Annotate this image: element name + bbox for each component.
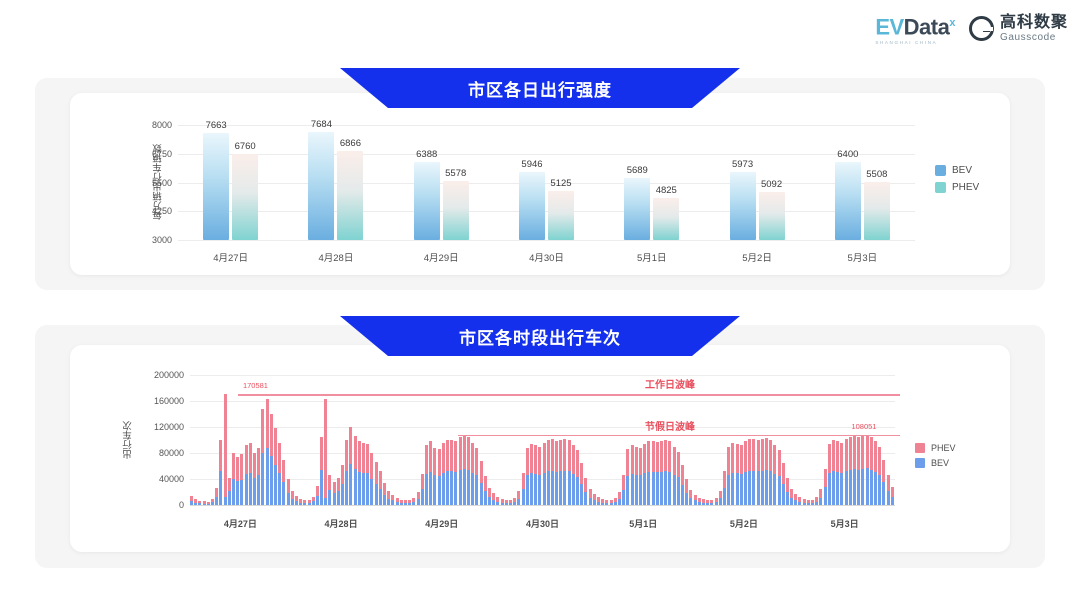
chart2-bar-bev-segment xyxy=(240,480,243,505)
chart2-bar[interactable] xyxy=(245,445,248,505)
chart2-y-tick: 80000 xyxy=(128,448,184,458)
chart2-bar-phev-segment xyxy=(320,437,323,469)
chart2-bar-bev-segment xyxy=(769,471,772,505)
section-1-panel: 每万辆出行车辆数30004250550067508000766367604月27… xyxy=(35,78,1045,290)
chart2-bar[interactable] xyxy=(496,497,499,505)
chart2-bar[interactable] xyxy=(559,440,562,505)
chart2-bar-bev-segment xyxy=(853,469,856,505)
chart2-bar-phev-segment xyxy=(349,427,352,464)
chart2-bar-bev-segment xyxy=(354,469,357,505)
section-1-title: 市区各日出行强度 xyxy=(468,76,612,101)
chart2-bar[interactable] xyxy=(639,448,642,505)
chart2-bar[interactable] xyxy=(874,441,877,505)
chart2-bar[interactable] xyxy=(861,436,864,505)
chart2-bar-bev-segment xyxy=(333,493,336,505)
chart2-bar-phev-segment xyxy=(446,440,449,471)
chart2-bar[interactable] xyxy=(471,443,474,505)
chart2-bar-bev-segment xyxy=(740,474,743,505)
chart2-bar[interactable] xyxy=(530,444,533,505)
chart2-bar[interactable] xyxy=(442,443,445,505)
chart2-bar-phev-segment xyxy=(778,450,781,477)
chart2-bar[interactable] xyxy=(757,440,760,505)
chart2-bar[interactable] xyxy=(647,441,650,505)
chart2-bar-phev-segment xyxy=(891,487,894,497)
chart2-bar[interactable] xyxy=(790,489,793,505)
chart2-bar-bev-segment xyxy=(836,472,839,505)
chart2-bar-phev-segment xyxy=(559,440,562,471)
chart2-bar[interactable] xyxy=(618,492,621,505)
chart2-bar-bev-segment xyxy=(480,483,483,505)
chart2-bar[interactable] xyxy=(849,437,852,505)
chart2-bar[interactable] xyxy=(421,474,424,505)
chart2-bar-bev-segment xyxy=(438,476,441,505)
chart2-bar-phev-segment xyxy=(517,491,520,498)
chart1-bar-phev[interactable] xyxy=(337,151,363,240)
chart2-bar[interactable] xyxy=(752,439,755,505)
chart1-x-tick: 5月1日 xyxy=(607,250,697,264)
chart2-bar[interactable] xyxy=(736,444,739,505)
chart2-bar[interactable] xyxy=(715,498,718,505)
chart2-bar[interactable] xyxy=(316,486,319,506)
chart2-legend-swatch xyxy=(915,443,925,453)
chart2-bar[interactable] xyxy=(362,443,365,505)
chart2-bar-bev-segment xyxy=(668,472,671,505)
chart2-bar-bev-segment xyxy=(349,464,352,505)
chart2-bar-phev-segment xyxy=(240,454,243,479)
chart2-bar-phev-segment xyxy=(463,436,466,469)
chart2-bar[interactable] xyxy=(677,452,680,505)
chart2-bar[interactable] xyxy=(580,463,583,505)
section-2-panel: 出行车次04000080000120000160000200000工作日波峰节假… xyxy=(35,325,1045,568)
chart2-bar-phev-segment xyxy=(522,473,525,489)
chart2-bar-bev-segment xyxy=(828,473,831,505)
chart1-legend: BEVPHEV xyxy=(935,165,979,199)
chart2-bar[interactable] xyxy=(698,498,701,505)
chart2-bar-phev-segment xyxy=(866,435,869,469)
chart2-bar[interactable] xyxy=(324,399,327,505)
chart2-bar[interactable] xyxy=(723,471,726,505)
chart2-x-tick: 5月1日 xyxy=(598,517,688,530)
chart2-bar[interactable] xyxy=(341,465,344,505)
chart1-bar-bev[interactable] xyxy=(308,132,334,240)
chart2-bar[interactable] xyxy=(236,457,239,505)
chart1-bar-bev[interactable] xyxy=(835,162,861,240)
chart2-legend-label: BEV xyxy=(931,458,949,468)
chart2-y-tick: 40000 xyxy=(128,474,184,484)
chart2-bar[interactable] xyxy=(689,490,692,505)
chart1-bar-value: 5508 xyxy=(866,169,887,180)
chart2-bar[interactable] xyxy=(794,494,797,505)
chart2-bar[interactable] xyxy=(786,478,789,505)
chart2-bar[interactable] xyxy=(320,437,323,505)
annotation-line-holiday-peak xyxy=(458,435,900,437)
chart2-bar[interactable] xyxy=(291,491,294,505)
chart2-bar[interactable] xyxy=(631,445,634,505)
chart2-bar[interactable] xyxy=(589,489,592,505)
chart2-bar-bev-segment xyxy=(555,472,558,505)
chart2-bar-bev-segment xyxy=(421,489,424,505)
chart1-bar-phev[interactable] xyxy=(443,181,469,240)
chart2-legend-label: PHEV xyxy=(931,443,956,453)
chart2-bar-phev-segment xyxy=(316,486,319,497)
chart1-bar-value: 5973 xyxy=(732,159,753,170)
chart2-bar[interactable] xyxy=(266,399,269,505)
chart1-y-tick: 6750 xyxy=(132,149,172,159)
chart2-bar-bev-segment xyxy=(429,472,432,505)
chart2-bar[interactable] xyxy=(484,476,487,505)
chart2-bar[interactable] xyxy=(513,498,516,505)
chart2-bar[interactable] xyxy=(454,441,457,505)
chart2-bar-phev-segment xyxy=(786,478,789,492)
chart2-bar-phev-segment xyxy=(773,445,776,474)
chart2-bar[interactable] xyxy=(824,469,827,505)
chart2-bar-bev-segment xyxy=(442,473,445,505)
chart2-bar-phev-segment xyxy=(261,409,264,453)
chart2-bar-bev-segment xyxy=(580,484,583,505)
chart2-bar[interactable] xyxy=(543,443,546,505)
chart2-bar-phev-segment xyxy=(744,441,747,472)
chart2-bar[interactable] xyxy=(643,444,646,505)
chart2-bar[interactable] xyxy=(261,409,264,505)
chart2-bar[interactable] xyxy=(396,498,399,505)
chart2-bar-bev-segment xyxy=(270,456,273,505)
chart2-bar-bev-segment xyxy=(882,482,885,505)
chart2-bar-phev-segment xyxy=(324,399,327,498)
chart2-bar[interactable] xyxy=(391,495,394,505)
chart2-bar[interactable] xyxy=(240,454,243,505)
chart2-bar[interactable] xyxy=(744,441,747,505)
chart2-bar[interactable] xyxy=(328,475,331,505)
chart2-bar[interactable] xyxy=(572,445,575,505)
chart2-bar-phev-segment xyxy=(421,474,424,490)
gausscode-en-name: Gausscode xyxy=(1000,33,1068,43)
chart2-bar[interactable] xyxy=(257,448,260,505)
chart2-bar-phev-segment xyxy=(757,440,760,471)
chart2-bar[interactable] xyxy=(555,441,558,505)
chart1-x-tick: 4月30日 xyxy=(502,250,592,264)
chart2-bar-phev-segment xyxy=(622,475,625,490)
chart2-bar[interactable] xyxy=(694,495,697,505)
chart2-bar-bev-segment xyxy=(341,484,344,505)
chart2-bar[interactable] xyxy=(685,479,688,505)
logo-group: EVDatax SHANGHAI CHINA 高科数聚 Gausscode xyxy=(875,12,1068,45)
chart2-bar[interactable] xyxy=(568,440,571,505)
chart2-bar[interactable] xyxy=(438,449,441,505)
chart2-bar-phev-segment xyxy=(618,492,621,499)
chart2-bar[interactable] xyxy=(278,443,281,505)
chart2-bar[interactable] xyxy=(412,498,415,505)
chart2-bar[interactable] xyxy=(433,448,436,505)
chart2-bar[interactable] xyxy=(563,439,566,505)
chart2-bar[interactable] xyxy=(547,440,550,505)
chart2-bar[interactable] xyxy=(387,491,390,505)
chart2-bar[interactable] xyxy=(295,496,298,505)
chart2-bar-phev-segment xyxy=(429,441,432,472)
chart2-bar[interactable] xyxy=(190,496,193,505)
chart2-bar[interactable] xyxy=(832,440,835,505)
chart2-bar[interactable] xyxy=(765,438,768,505)
chart2-bar-phev-segment xyxy=(673,447,676,475)
chart2-bar-bev-segment xyxy=(832,471,835,505)
chart2-bar[interactable] xyxy=(354,436,357,505)
chart2-bar-phev-segment xyxy=(257,448,260,475)
chart2-bar[interactable] xyxy=(375,462,378,505)
chart2-bar[interactable] xyxy=(333,482,336,505)
chart2-bar[interactable] xyxy=(349,427,352,505)
chart2-bar-phev-segment xyxy=(387,491,390,499)
chart2-bar[interactable] xyxy=(828,444,831,505)
chart2-bar[interactable] xyxy=(773,445,776,505)
chart2-bar[interactable] xyxy=(622,475,625,505)
chart1-bar-value: 7663 xyxy=(206,120,227,131)
chart1-gridline xyxy=(178,183,915,184)
chart2-bar[interactable] xyxy=(819,489,822,505)
chart1-bar-bev[interactable] xyxy=(624,178,650,240)
chart2-bar-bev-segment xyxy=(257,475,260,505)
chart1-bar-phev[interactable] xyxy=(759,192,785,240)
chart2-bar[interactable] xyxy=(358,441,361,505)
chart2-bar[interactable] xyxy=(878,447,881,506)
chart2-bar[interactable] xyxy=(463,436,466,505)
chart2-bar[interactable] xyxy=(480,461,483,505)
chart2-bar[interactable] xyxy=(740,445,743,505)
chart2-bar[interactable] xyxy=(673,447,676,506)
chart2-bar[interactable] xyxy=(538,447,541,506)
chart2-bar-bev-segment xyxy=(572,474,575,505)
chart2-bar-bev-segment xyxy=(475,475,478,505)
chart1-legend-swatch xyxy=(935,182,946,193)
chart2-bar[interactable] xyxy=(882,460,885,506)
chart2-bar[interactable] xyxy=(287,479,290,505)
chart2-bar-bev-segment xyxy=(857,470,860,505)
chart2-bar[interactable] xyxy=(459,437,462,505)
chart2-bar-bev-segment xyxy=(370,479,373,505)
chart2-bar-phev-segment xyxy=(287,479,290,493)
chart2-bar[interactable] xyxy=(836,441,839,505)
chart2-bar-bev-segment xyxy=(786,492,789,505)
chart2-bar[interactable] xyxy=(681,465,684,505)
chart2-bar[interactable] xyxy=(845,439,848,505)
chart2-bar[interactable] xyxy=(345,440,348,505)
evdata-logo: EVDatax SHANGHAI CHINA xyxy=(875,12,955,45)
chart2-bar-bev-segment xyxy=(727,475,730,505)
chart2-bar-bev-segment xyxy=(463,469,466,505)
chart2-bar-phev-segment xyxy=(824,469,827,487)
chart2-bar[interactable] xyxy=(727,447,730,506)
chart2-bar[interactable] xyxy=(282,460,285,506)
gausscode-logo: 高科数聚 Gausscode xyxy=(969,15,1068,43)
chart2-bar[interactable] xyxy=(370,453,373,505)
chart2-bar[interactable] xyxy=(379,471,382,505)
chart2-bar[interactable] xyxy=(782,463,785,505)
chart2-bar[interactable] xyxy=(778,450,781,505)
chart2-bar[interactable] xyxy=(664,440,667,505)
chart2-bar[interactable] xyxy=(840,443,843,505)
chart2-bar-phev-segment xyxy=(534,445,537,474)
chart2-bar-phev-segment xyxy=(333,482,336,494)
chart2-bar[interactable] xyxy=(870,437,873,505)
chart2-bar-phev-segment xyxy=(677,452,680,478)
chart2-bar[interactable] xyxy=(866,435,869,505)
evdata-data-text: Data xyxy=(904,14,950,39)
chart2-bar-bev-segment xyxy=(282,482,285,505)
chart2-bar[interactable] xyxy=(522,473,525,506)
chart2-bar-bev-segment xyxy=(219,471,222,505)
chart2-bar-phev-segment xyxy=(857,437,860,469)
chart2-bar-phev-segment xyxy=(270,414,273,456)
chart2-bar-phev-segment xyxy=(480,461,483,483)
chart2-bar[interactable] xyxy=(769,440,772,505)
chart1-bar-phev[interactable] xyxy=(232,154,258,240)
chart2-bar[interactable] xyxy=(887,475,890,505)
chart2-bar[interactable] xyxy=(253,453,256,505)
chart2-bar[interactable] xyxy=(383,483,386,505)
chart2-bar-bev-segment xyxy=(660,472,663,505)
chart2-bar-phev-segment xyxy=(639,448,642,475)
chart2-bar[interactable] xyxy=(719,491,722,505)
chart2-bar-phev-segment xyxy=(341,465,344,484)
chart2-bar[interactable] xyxy=(731,443,734,505)
chart2-bar[interactable] xyxy=(534,445,537,505)
chart2-bar[interactable] xyxy=(417,492,420,505)
chart2-bar[interactable] xyxy=(593,494,596,505)
chart2-bar[interactable] xyxy=(656,442,659,505)
chart2-bar-bev-segment xyxy=(589,498,592,505)
chart1-bar-bev[interactable] xyxy=(730,172,756,240)
chart2-bar-phev-segment xyxy=(723,471,726,488)
chart1-bar-value: 6760 xyxy=(235,141,256,152)
annotation-label-weekday-peak: 工作日波峰 xyxy=(645,376,695,391)
chart1-gridline xyxy=(178,125,915,126)
chart2-bar-bev-segment xyxy=(215,497,218,505)
chart2-bar-bev-segment xyxy=(887,491,890,505)
chart2-bar[interactable] xyxy=(815,497,818,505)
chart2-bar[interactable] xyxy=(526,448,529,505)
chart1-bar-bev[interactable] xyxy=(519,172,545,240)
chart2-bar-phev-segment xyxy=(471,443,474,473)
chart2-bar[interactable] xyxy=(551,439,554,505)
chart2-bar[interactable] xyxy=(857,437,860,505)
chart2-bar-bev-segment xyxy=(358,472,361,505)
chart2-bar-phev-segment xyxy=(576,450,579,476)
chart2-bar[interactable] xyxy=(891,487,894,505)
chart2-bar[interactable] xyxy=(488,488,491,505)
chart2-bar[interactable] xyxy=(228,478,231,505)
chart2-legend-item[interactable]: PHEV xyxy=(915,443,956,453)
chart2-bar-bev-segment xyxy=(287,493,290,505)
chart2-bar-phev-segment xyxy=(719,491,722,499)
chart2-bar[interactable] xyxy=(429,441,432,505)
chart2-bar[interactable] xyxy=(475,448,478,505)
chart2-bar[interactable] xyxy=(660,441,663,505)
chart2-bar-bev-segment xyxy=(249,473,252,505)
chart2-bar[interactable] xyxy=(215,488,218,505)
chart2-peak-value: 108051 xyxy=(851,422,876,431)
chart2-bar[interactable] xyxy=(492,493,495,505)
chart2-bar-bev-segment xyxy=(488,497,491,505)
chart2-bar-bev-segment xyxy=(861,469,864,505)
chart1-bar-phev[interactable] xyxy=(653,198,679,240)
chart2-bar-phev-segment xyxy=(664,440,667,471)
chart2-bar-phev-segment xyxy=(224,394,227,497)
chart2-bar[interactable] xyxy=(517,491,520,505)
chart2-x-tick: 5月3日 xyxy=(800,517,890,530)
chart1-bar-phev[interactable] xyxy=(548,191,574,240)
chart2-bar[interactable] xyxy=(270,414,273,505)
chart2-bar-phev-segment xyxy=(467,437,470,469)
chart1-bar-bev[interactable] xyxy=(414,162,440,240)
section-2-banner: 市区各时段出行车次 xyxy=(340,316,740,356)
chart2-bar[interactable] xyxy=(224,394,227,505)
chart2-bar[interactable] xyxy=(635,447,638,506)
chart2-bar[interactable] xyxy=(668,441,671,505)
chart2-bar[interactable] xyxy=(274,428,277,505)
chart2-bar-phev-segment xyxy=(782,463,785,484)
chart2-bar-phev-segment xyxy=(417,492,420,499)
chart2-bar[interactable] xyxy=(761,439,764,505)
chart2-bar[interactable] xyxy=(652,441,655,505)
chart2-bar-phev-segment xyxy=(689,490,692,498)
chart2-bar[interactable] xyxy=(626,449,629,505)
chart2-bar-phev-segment xyxy=(635,447,638,475)
chart2-bar[interactable] xyxy=(584,478,587,505)
chart2-bar-phev-segment xyxy=(475,448,478,475)
chart2-bar[interactable] xyxy=(366,444,369,505)
chart2-bar-bev-segment xyxy=(639,475,642,505)
chart2-bar-phev-segment xyxy=(887,475,890,491)
chart2-y-tick: 120000 xyxy=(128,422,184,432)
chart1-legend-item[interactable]: BEV xyxy=(935,165,979,176)
chart2-bar-phev-segment xyxy=(450,440,453,471)
chart2-bar[interactable] xyxy=(853,436,856,505)
chart2-legend-item[interactable]: BEV xyxy=(915,458,956,468)
chart2-bar-phev-segment xyxy=(572,445,575,474)
chart2-bar[interactable] xyxy=(798,497,801,505)
chart1-bar-bev[interactable] xyxy=(203,133,229,240)
chart2-bar[interactable] xyxy=(337,478,340,505)
chart2-bar-bev-segment xyxy=(446,471,449,505)
chart2-bar[interactable] xyxy=(312,497,315,505)
chart2-bar[interactable] xyxy=(219,440,222,505)
chart2-bar[interactable] xyxy=(748,439,751,505)
chart1-legend-item[interactable]: PHEV xyxy=(935,182,979,193)
chart2-bar[interactable] xyxy=(446,440,449,505)
chart1-y-tick: 5500 xyxy=(132,178,172,188)
chart2-bar-bev-segment xyxy=(681,485,684,505)
chart2-bar[interactable] xyxy=(467,437,470,505)
chart2-bar-phev-segment xyxy=(328,475,331,490)
chart2-bar[interactable] xyxy=(232,453,235,505)
annotation-label-holiday-peak: 节假日波峰 xyxy=(645,418,695,433)
chart2-bar-bev-segment xyxy=(320,470,323,505)
chart2-bar-phev-segment xyxy=(337,478,340,492)
chart2-bar[interactable] xyxy=(614,498,617,505)
chart2-bar-phev-segment xyxy=(383,483,386,495)
chart1-bar-value: 5092 xyxy=(761,179,782,190)
chart1-bar-value: 5689 xyxy=(627,165,648,176)
chart2-bar[interactable] xyxy=(450,440,453,505)
chart2-bar[interactable] xyxy=(249,443,252,505)
chart2-bar[interactable] xyxy=(576,450,579,505)
chart2-x-axis-line xyxy=(190,505,895,506)
chart2-bar[interactable] xyxy=(425,445,428,505)
chart2-bar[interactable] xyxy=(597,497,600,505)
section-2-title: 市区各时段出行车次 xyxy=(459,324,621,349)
chart2-bar-bev-segment xyxy=(547,471,550,505)
chart1-bar-phev[interactable] xyxy=(864,182,890,240)
gausscode-cn-name: 高科数聚 xyxy=(1000,15,1068,31)
chart2-bar-phev-segment xyxy=(538,447,541,475)
